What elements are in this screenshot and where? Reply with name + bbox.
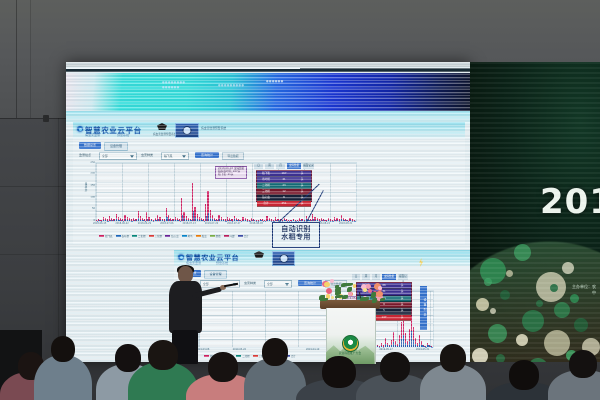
nav-data-overview[interactable]: 数据总览 (79, 142, 101, 149)
y-tick-label: 150 (85, 184, 95, 187)
table-cell: 头 (293, 171, 311, 176)
app-header: 智慧农业云平台 病虫害监测 预警系统 (174, 250, 470, 266)
callout-annotation: 自动识别 水稻专用 (272, 222, 320, 248)
table-cell: 合计 (257, 201, 275, 206)
table-cell: 头 (393, 289, 411, 294)
table-cell: 卷叶螟 (257, 177, 275, 182)
emblem-caption: 病虫害监测预警系统 (153, 132, 176, 136)
flower-leaf (320, 298, 328, 301)
chart-bar (252, 220, 253, 221)
wall-seam (16, 0, 17, 118)
legend-item[interactable]: 蓟马 (182, 234, 193, 238)
audience-head (509, 360, 539, 390)
wall-bracket (43, 115, 49, 122)
flower-leaf (342, 295, 348, 299)
wall-seam (30, 0, 31, 118)
flower (363, 288, 368, 293)
chart-bar (385, 344, 386, 347)
chart-bar (208, 213, 209, 221)
chart-bar (190, 220, 191, 221)
chart-bar (184, 218, 185, 221)
header-banner-text: 病虫害监测预警系统 (201, 126, 226, 130)
legend-label: 黏虫 (202, 234, 207, 238)
device-list-side-tab[interactable]: 设备列表 (420, 286, 427, 330)
flower (376, 291, 382, 297)
pest-dropdown-value: 稻飞虱 (164, 154, 172, 158)
legend-swatch (149, 235, 154, 237)
table-cell: 二化螟 (257, 183, 275, 188)
table-cell: 12 (275, 189, 293, 194)
organizer-line-2: 中 (572, 290, 596, 296)
chart-bar (413, 340, 414, 347)
site-dropdown-value: 全部 (102, 154, 108, 158)
legend-label: 蓟马 (188, 234, 193, 238)
audience-head (322, 356, 356, 388)
audience-head (380, 352, 410, 382)
chart-bar (234, 219, 235, 221)
table-cell: 头 (393, 315, 411, 320)
globe-dot-icon (77, 126, 83, 132)
chart-bar (125, 219, 126, 221)
table-cell: 251 (275, 201, 293, 206)
chart-bar (116, 219, 117, 221)
chart-bar (140, 220, 141, 221)
tab-week[interactable]: 周 (265, 163, 274, 169)
gov-seal-icon (175, 123, 199, 138)
x-tick-label: 2019-05-17 (379, 348, 392, 351)
audience-head (262, 338, 288, 366)
legend-item[interactable]: 合计 (238, 234, 249, 238)
chart-bar (162, 220, 163, 221)
chart-bar (221, 220, 222, 221)
chart-bar (387, 345, 388, 347)
screen-banner-gradient: ●●●●●●●● ●●●●●● ●●●●●●●●● ●●●●●● (66, 73, 470, 111)
gov-seal-icon (272, 251, 295, 266)
tab-month[interactable]: 月 (276, 163, 285, 169)
chart-bar (350, 220, 351, 221)
chart-bar (127, 220, 128, 221)
chart-bar (219, 219, 220, 221)
chart-bar (142, 220, 143, 221)
chart-bar (147, 219, 148, 221)
presenter-torso (169, 281, 202, 333)
banner-dot (562, 262, 574, 274)
banner-dot (484, 278, 492, 286)
chart-bar (103, 220, 104, 221)
x-tick-label: 2018-06-22 (115, 222, 128, 225)
chart-bar (199, 220, 200, 221)
banner-dot (500, 290, 510, 300)
chart-bar (417, 346, 418, 347)
chart-bar (186, 220, 187, 221)
legend-item[interactable]: 黏虫 (196, 234, 207, 238)
leaf-emblem-icon (157, 123, 167, 130)
x-tick-label: 2018-06-15 (93, 222, 106, 225)
chart-tooltip: 2018-06-18 虫情数据 稻纵卷叶螟: 167头 稻飞虱: 41头 (215, 166, 247, 179)
chart-bar (346, 220, 347, 221)
legend-item[interactable]: 稻飞虱 (99, 234, 113, 238)
table-cell: 头 (393, 283, 411, 288)
chart-bar (389, 346, 390, 347)
chart-bar (230, 220, 231, 221)
audience-head (208, 352, 238, 382)
chart-bar (415, 344, 416, 347)
flower-arrangement (316, 276, 386, 302)
chart-bar (293, 220, 294, 221)
x-tick-label: 2018-06-29 (138, 222, 151, 225)
banner-dot (554, 302, 570, 318)
chart-bar (245, 220, 246, 221)
chart-bar (105, 220, 106, 221)
chart-bar (269, 220, 270, 221)
chart-bar (210, 218, 211, 221)
chart-bar (160, 220, 161, 221)
chart-bar (121, 220, 122, 221)
y-tick-label: 250 (85, 161, 95, 164)
chart-bar (138, 218, 139, 221)
flower (326, 288, 332, 294)
chart-bar (409, 341, 410, 347)
chart-bar (267, 220, 268, 221)
x-tick-label: 2018-08-03 (250, 222, 263, 225)
legend-swatch (132, 235, 137, 237)
tooltip-line-3: 稻飞虱: 41头 (218, 174, 244, 177)
chart-bar (315, 220, 316, 221)
app-subtitle-left: 病虫害监测 (186, 261, 201, 265)
chart-bar (212, 219, 213, 221)
flower (353, 284, 356, 287)
chart-bar (223, 220, 224, 221)
chart-bar (308, 220, 309, 221)
wall-seam (58, 118, 59, 358)
table-cell: 头 (393, 302, 411, 307)
chart-bar (217, 220, 218, 221)
chart-bar (99, 220, 100, 221)
legend-item[interactable]: 二化螟 (132, 234, 146, 238)
chart-bar (134, 220, 135, 221)
chart-bar (407, 345, 408, 347)
chart-bar (393, 342, 394, 347)
banner-organizer: 主办单位：农 中 (572, 284, 596, 296)
chart-bar (197, 219, 198, 221)
legend-swatch (210, 235, 215, 237)
chart-bar (397, 346, 398, 347)
screen-tear-band (66, 67, 300, 69)
flower-leaf (344, 283, 353, 287)
chart-bar (276, 220, 277, 221)
table-cell: 钻心虫 (257, 195, 275, 200)
banner-dot (514, 244, 531, 261)
site-dropdown[interactable]: 全部 (99, 152, 137, 160)
globe-dot-icon (178, 254, 184, 260)
x-tick-label: 2018-07-20 (205, 222, 218, 225)
chart-bar (381, 346, 382, 347)
banner-dot (550, 284, 558, 292)
leaf-emblem-icon (254, 251, 264, 258)
banner-dot (516, 334, 528, 346)
legend-swatch (116, 235, 121, 237)
chart-bar (322, 220, 323, 221)
legend-item[interactable]: 螟蛾 (210, 234, 221, 238)
table-row: 合计251头 (257, 201, 311, 207)
audience-head (51, 336, 75, 362)
flower-leaf (335, 291, 341, 295)
audience-person (34, 336, 92, 400)
chart-bar (169, 219, 170, 221)
chart-bar (328, 220, 329, 221)
chart-bar (243, 220, 244, 221)
table-cell: 头 (293, 177, 311, 182)
table-cell: 稻飞虱 (257, 171, 275, 176)
chart-bar (335, 220, 336, 221)
chart-bar (401, 339, 402, 347)
legend-label: 三化螟 (155, 234, 163, 238)
legend-label: 二化螟 (138, 234, 146, 238)
audience-person (548, 350, 600, 400)
y-tick-label: 100 (85, 196, 95, 199)
legend-swatch (196, 235, 201, 237)
table-tab-strip[interactable]: 日 周 月 虫情数据 报警记录 (254, 163, 314, 169)
table-cell: 头 (393, 308, 411, 313)
chart-bar (166, 217, 167, 221)
x-tick-label: 2019-04-19 (306, 348, 319, 351)
x-tick-label: 2018-08-31 (339, 222, 352, 225)
podium-emblem-icon (342, 335, 359, 352)
flower (330, 279, 334, 283)
led-video-wall: ●●●●●●●● ●●●●●● ●●●●●●●●● ●●●●●● 智慧农业云平台… (66, 62, 470, 362)
legend-swatch (224, 235, 229, 237)
chart-bar (149, 220, 150, 221)
app-subtitle-left: 病虫害监测 (85, 133, 100, 137)
chart-bar (171, 220, 172, 221)
tab-day[interactable]: 日 (254, 163, 263, 169)
export-button[interactable]: 导出数据 (222, 152, 244, 161)
event-banner: 201 主办单位：农 中 (470, 62, 600, 362)
chart-bar (151, 220, 152, 221)
x-tick-label: 2018-07-13 (182, 222, 195, 225)
app-subtitle-right: 预警系统 (117, 133, 129, 137)
flower-leaf (347, 287, 352, 292)
flower-leaf (380, 298, 385, 301)
callout-line-1: 自动识别 (273, 225, 319, 233)
banner-dot (522, 310, 544, 332)
chart-bar (395, 345, 396, 347)
chart-bar (175, 220, 176, 221)
chart-bar (177, 220, 178, 221)
chart-bar (112, 220, 113, 221)
chart-bar (411, 331, 412, 347)
chart-bar (343, 220, 344, 221)
banner-dot (490, 308, 496, 314)
chart-bar (188, 220, 189, 221)
audience-head (569, 350, 597, 378)
tab-alarm[interactable]: 报警记录 (398, 274, 408, 280)
chart-bar (254, 220, 255, 221)
pest-dropdown[interactable]: 全部 (264, 280, 292, 288)
filter-label-pest: 虫害种类 (141, 153, 153, 157)
chart-bar (193, 211, 194, 221)
tab-pest-data[interactable]: 虫情数据 (287, 163, 301, 169)
tab-alarm[interactable]: 报警记录 (303, 163, 314, 169)
query-button[interactable]: 查询统计 (195, 152, 219, 159)
chart-bar (195, 217, 196, 221)
table-cell: 头 (293, 183, 311, 188)
table-cell: 41 (275, 177, 293, 182)
app-subtitle-right: 预警系统 (216, 261, 228, 265)
chart-bar (136, 220, 137, 221)
legend-item[interactable]: 叶蝉 (224, 234, 235, 238)
table-cell: 167 (275, 171, 293, 176)
legend-label: 叶蝉 (230, 234, 235, 238)
chart-bar (118, 220, 119, 221)
banner-dot (574, 318, 588, 332)
chart-bar (399, 343, 400, 347)
legend-label: 螟蛾 (216, 234, 221, 238)
y-tick-label: 200 (85, 172, 95, 175)
audience-head (148, 340, 178, 370)
audience-head (440, 344, 466, 372)
chart-bar (313, 219, 314, 221)
chart-bar (341, 219, 342, 221)
chart-bar (110, 220, 111, 221)
chart-bar (206, 216, 207, 221)
chart-bar (317, 220, 318, 221)
chart-legend-top[interactable]: 稻飞虱卷叶螟二化螟三化螟钻心虫蓟马黏虫螟蛾叶蝉合计 (99, 234, 249, 238)
conference-hall-photo: ●●●●●●●● ●●●●●● ●●●●●●●●● ●●●●●● 智慧农业云平台… (0, 0, 600, 400)
table-cell: 三化螟 (257, 189, 275, 194)
banner-dot (536, 300, 543, 307)
chart-bar (405, 343, 406, 347)
filter-label-pest: 虫害种类 (244, 281, 256, 285)
legend-swatch (238, 235, 243, 237)
chart-bar (236, 220, 237, 221)
chart-bar (114, 220, 115, 221)
pest-dropdown[interactable]: 稻飞虱 (161, 152, 189, 160)
chart-bar (239, 220, 240, 221)
chart-bar (260, 220, 261, 221)
y-tick-label: 50 (85, 207, 95, 210)
chart-bar (300, 220, 301, 221)
banner-year: 201 (540, 182, 600, 222)
chart-bar (324, 220, 325, 221)
flower (324, 282, 330, 288)
legend-label: 稻飞虱 (105, 234, 113, 238)
flower-leaf (360, 297, 368, 301)
banner-dot (476, 298, 489, 311)
app-header: 智慧农业云平台 病虫害监测 预警系统 病虫害监测预警系统 病虫害监测预警系统 (73, 122, 465, 138)
banner-dot (506, 270, 513, 277)
legend-swatch (182, 235, 187, 237)
chart-bar (284, 220, 285, 221)
chart-bar (391, 345, 392, 347)
legend-label: 卷叶螟 (122, 234, 130, 238)
flower (331, 296, 334, 299)
legend-swatch (165, 235, 170, 237)
chart-bar (155, 220, 156, 221)
callout-line-2: 水稻专用 (273, 233, 319, 241)
table-cell: 8 (275, 195, 293, 200)
filter-label-site: 监测站点 (79, 153, 91, 157)
chart-bar (182, 215, 183, 221)
chart-bar (214, 220, 215, 221)
legend-label: 钻心虫 (171, 234, 179, 238)
audience-person (420, 344, 486, 400)
legend-swatch (99, 235, 104, 237)
x-tick-label: 2018-07-06 (160, 222, 173, 225)
pest-dropdown-value: 全部 (267, 282, 273, 286)
legend-label: 合计 (244, 234, 249, 238)
chart-bar (302, 220, 303, 221)
chart-bar (129, 220, 130, 221)
chart-bar (201, 220, 202, 221)
banner-dot (488, 324, 507, 343)
legend-item[interactable]: 三化螟 (149, 234, 163, 238)
chart-bar (158, 219, 159, 221)
x-tick-label: 2018-07-27 (227, 222, 240, 225)
table-cell: 23 (275, 183, 293, 188)
chart-bar (228, 220, 229, 221)
chart-bar (311, 220, 312, 221)
chart-bar (403, 335, 404, 347)
legend-item[interactable]: 卷叶螟 (116, 234, 130, 238)
table-cell: 头 (393, 296, 411, 301)
legend-item[interactable]: 钻心虫 (165, 234, 179, 238)
chart-bar (337, 220, 338, 221)
chart-bar (173, 220, 174, 221)
nav-device-manage[interactable]: 设备管理 (104, 142, 128, 151)
